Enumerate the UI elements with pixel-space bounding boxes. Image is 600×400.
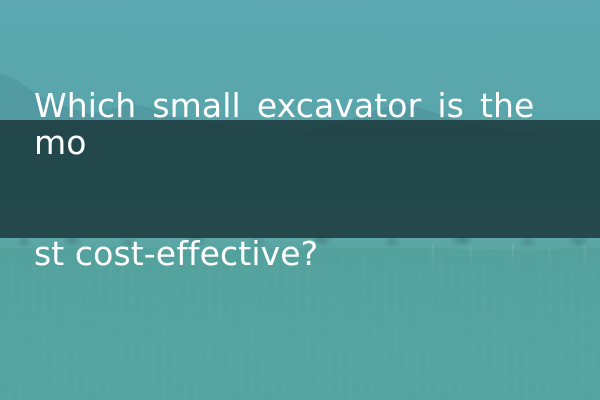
caption-line-1: Which small excavator is the mo xyxy=(34,87,566,161)
caption-line-2: st cost-effective? xyxy=(34,235,566,272)
caption-band: Which small excavator is the mo st cost-… xyxy=(0,120,600,238)
caption-text: Which small excavator is the mo st cost-… xyxy=(34,13,566,346)
screenshot-root: Which small excavator is the mo st cost-… xyxy=(0,0,600,400)
